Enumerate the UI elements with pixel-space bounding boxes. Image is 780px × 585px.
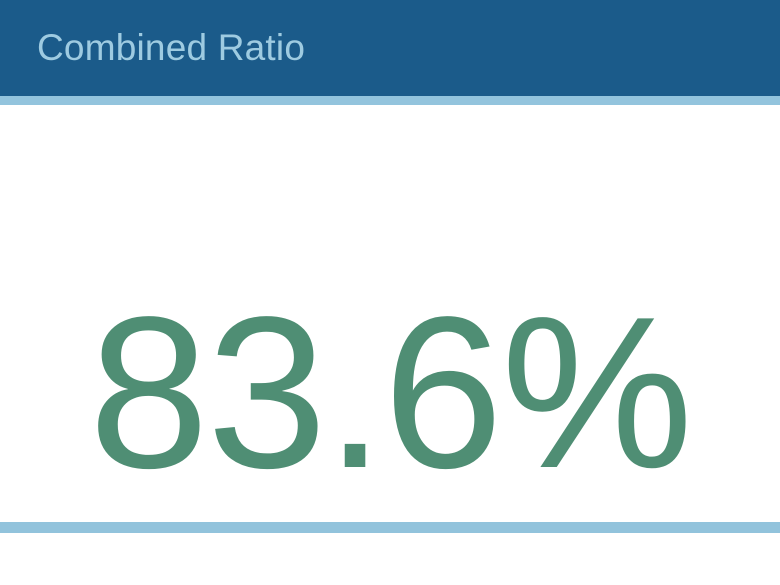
combined-ratio-value: 83.6% (0, 284, 780, 500)
slide: Combined Ratio 83.6% Target: mid-80s Not… (0, 0, 780, 585)
footer-accent-bar (0, 522, 780, 533)
header-accent-bar (0, 96, 780, 105)
slide-footer: HCC See Notice About This Presentation 7 (0, 533, 780, 585)
slide-body: 83.6% Target: mid-80s Note: Results are … (0, 105, 780, 517)
page-title: Combined Ratio (37, 26, 305, 70)
